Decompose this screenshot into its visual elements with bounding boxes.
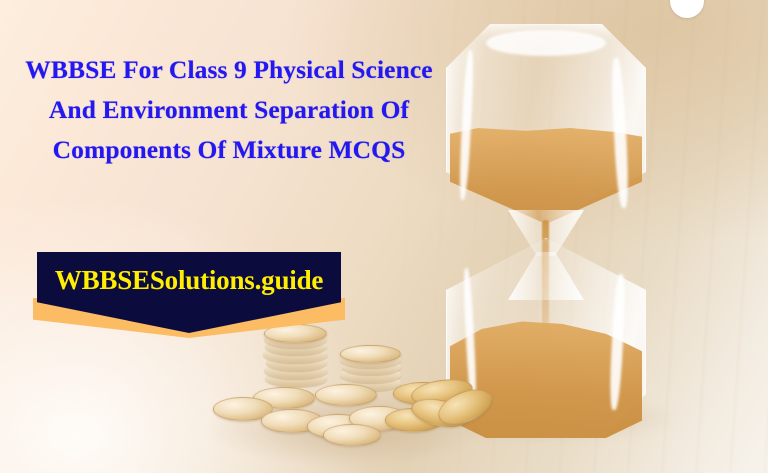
title-line-3: Components Of Mixture MCQS (14, 130, 444, 170)
site-logo-banner[interactable]: WBBSESolutions.guide (33, 252, 345, 338)
page-title: WBBSE For Class 9 Physical Science And E… (14, 50, 444, 170)
title-line-2: And Environment Separation Of (14, 90, 444, 130)
banner-canvas: WBBSE For Class 9 Physical Science And E… (0, 0, 768, 473)
logo-text: WBBSESolutions.guide (55, 265, 323, 296)
coin (315, 384, 377, 406)
coin (323, 424, 381, 446)
glass-highlight-cap (486, 30, 606, 56)
coin-stack-mid-top (340, 345, 401, 363)
coins-group (215, 320, 495, 473)
title-line-1: WBBSE For Class 9 Physical Science (14, 50, 444, 90)
decorative-circle (670, 0, 704, 18)
